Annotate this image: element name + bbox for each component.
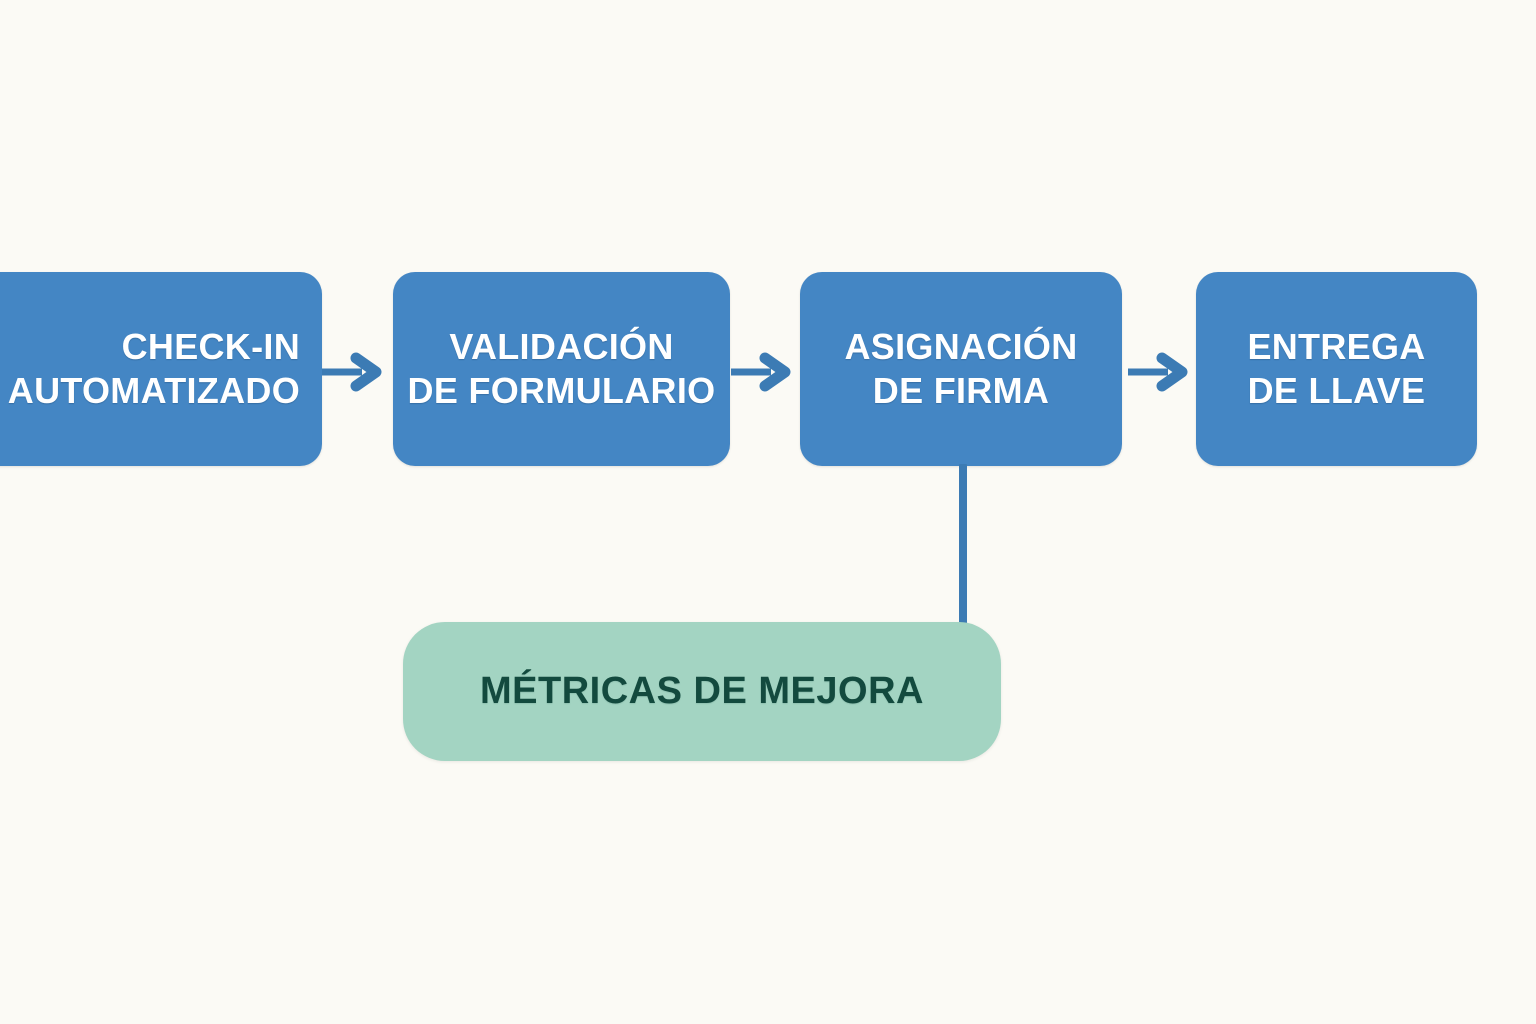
step-label-line2: DE FORMULARIO xyxy=(408,369,716,413)
process-step-asignacion-de-firma[interactable]: ASIGNACIÓN DE FIRMA xyxy=(800,272,1122,466)
step-label-line2: DE LLAVE xyxy=(1248,369,1426,413)
step-label-line1: ASIGNACIÓN xyxy=(844,325,1077,369)
arrow-right-icon xyxy=(1128,352,1190,392)
step-label-line2: DE FIRMA xyxy=(873,369,1049,413)
connector-line-vertical xyxy=(959,464,967,626)
step-label-line1: CHECK-IN xyxy=(122,325,300,369)
process-step-check-in-automatizado[interactable]: CHECK-IN AUTOMATIZADO xyxy=(0,272,322,466)
metrics-pill-label: MÉTRICAS DE MEJORA xyxy=(480,670,924,713)
process-step-validacion-de-formulario[interactable]: VALIDACIÓN DE FORMULARIO xyxy=(393,272,730,466)
diagram-canvas: CHECK-IN AUTOMATIZADO VALIDACIÓN DE FORM… xyxy=(0,0,1536,1024)
step-label-line1: ENTREGA xyxy=(1247,325,1425,369)
step-label-line1: VALIDACIÓN xyxy=(449,325,673,369)
process-step-entrega-de-llave[interactable]: ENTREGA DE LLAVE xyxy=(1196,272,1477,466)
metrics-pill-metricas-de-mejora[interactable]: MÉTRICAS DE MEJORA xyxy=(403,622,1001,761)
arrow-right-icon xyxy=(731,352,793,392)
arrow-right-icon xyxy=(322,352,384,392)
step-label-line2: AUTOMATIZADO xyxy=(8,369,300,413)
